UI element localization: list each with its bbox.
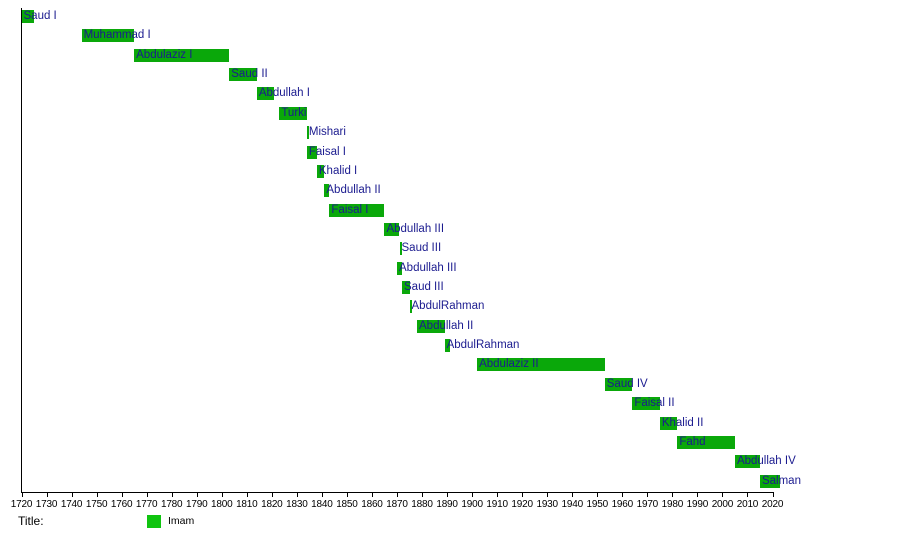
gantt-bar-label: Saud III	[404, 280, 444, 294]
x-tick-mark	[747, 492, 748, 497]
gantt-row[interactable]: Saud III	[0, 279, 900, 298]
x-tick-mark	[672, 492, 673, 497]
gantt-bar-label: Khalid II	[662, 416, 704, 430]
gantt-row[interactable]: Abdullah I	[0, 85, 900, 104]
x-tick-mark	[97, 492, 98, 497]
x-tick-mark	[72, 492, 73, 497]
legend-swatch-imam	[147, 515, 161, 528]
gantt-row[interactable]: Saud IV	[0, 376, 900, 395]
x-tick-label: 1720	[11, 499, 32, 510]
gantt-row[interactable]: Khalid II	[0, 415, 900, 434]
x-tick-label: 1830	[286, 499, 307, 510]
gantt-bar-label: AbdulRahman	[447, 338, 520, 352]
x-tick-label: 1850	[336, 499, 357, 510]
gantt-row[interactable]: AbdulRahman	[0, 337, 900, 356]
x-tick-label: 1800	[211, 499, 232, 510]
plot-area: 1720173017401750176017701780179018001810…	[0, 0, 900, 495]
gantt-bar-label: Abdullah III	[386, 222, 444, 236]
x-tick-mark	[397, 492, 398, 497]
x-tick-label: 1770	[136, 499, 157, 510]
x-tick-mark	[447, 492, 448, 497]
x-tick-label: 1810	[236, 499, 257, 510]
x-tick-mark	[472, 492, 473, 497]
gantt-bar-label: AbdulRahman	[412, 299, 485, 313]
legend-title: Title:	[18, 514, 44, 528]
gantt-bar-label: Saud IV	[607, 377, 648, 391]
gantt-bar-label: Abdullah II	[419, 319, 473, 333]
x-tick-mark	[597, 492, 598, 497]
x-tick-label: 1820	[261, 499, 282, 510]
gantt-bar-label: Fahd	[679, 435, 705, 449]
gantt-row[interactable]: Abdullah II	[0, 182, 900, 201]
x-tick-label: 1980	[662, 499, 683, 510]
x-tick-label: 1900	[461, 499, 482, 510]
x-tick-label: 1860	[361, 499, 382, 510]
x-tick-mark	[572, 492, 573, 497]
gantt-row[interactable]: Saud III	[0, 240, 900, 259]
x-tick-mark	[773, 492, 774, 497]
gantt-bar-label: Saud I	[24, 9, 57, 23]
gantt-row[interactable]: Saud I	[0, 8, 900, 27]
x-tick-mark	[122, 492, 123, 497]
x-tick-label: 1910	[486, 499, 507, 510]
gantt-row[interactable]: Muhammad I	[0, 27, 900, 46]
x-tick-label: 2000	[712, 499, 733, 510]
x-tick-label: 1950	[587, 499, 608, 510]
gantt-bar-label: Faisal II	[634, 396, 674, 410]
gantt-row[interactable]: Turki	[0, 105, 900, 124]
gantt-row[interactable]: Abdullah III	[0, 260, 900, 279]
gantt-bar-label: Saud III	[402, 241, 442, 255]
x-tick-label: 1940	[561, 499, 582, 510]
x-tick-mark	[172, 492, 173, 497]
x-tick-mark	[247, 492, 248, 497]
gantt-bar-label: Abdullah II	[326, 183, 380, 197]
x-tick-mark	[22, 492, 23, 497]
gantt-row[interactable]: Salman	[0, 473, 900, 492]
x-tick-mark	[722, 492, 723, 497]
x-tick-mark	[222, 492, 223, 497]
gantt-row[interactable]: Saud II	[0, 66, 900, 85]
gantt-row[interactable]: Fahd	[0, 434, 900, 453]
gantt-row[interactable]: Faisal I	[0, 202, 900, 221]
gantt-bar-label: Abdullah I	[259, 86, 310, 100]
x-tick-label: 1760	[111, 499, 132, 510]
gantt-bar-label: Khalid I	[319, 164, 357, 178]
gantt-row[interactable]: Abdullah IV	[0, 453, 900, 472]
x-tick-label: 1890	[436, 499, 457, 510]
x-tick-mark	[147, 492, 148, 497]
gantt-bar-label: Abdullah IV	[737, 454, 796, 468]
gantt-row[interactable]: Abdulaziz II	[0, 356, 900, 375]
gantt-bar-label: Turki	[281, 106, 306, 120]
gantt-bar-label: Muhammad I	[84, 28, 151, 42]
gantt-row[interactable]: Faisal II	[0, 395, 900, 414]
gantt-bar-label: Abdulaziz I	[136, 48, 192, 62]
x-tick-label: 2010	[737, 499, 758, 510]
x-tick-label: 1790	[186, 499, 207, 510]
gantt-row[interactable]: Abdullah III	[0, 221, 900, 240]
x-tick-mark	[697, 492, 698, 497]
gantt-row[interactable]: Khalid I	[0, 163, 900, 182]
x-tick-mark	[422, 492, 423, 497]
x-tick-mark	[197, 492, 198, 497]
gantt-bar-label: Saud II	[231, 67, 267, 81]
gantt-row[interactable]: Faisal I	[0, 144, 900, 163]
gantt-row[interactable]: AbdulRahman	[0, 298, 900, 317]
gantt-chart: 1720173017401750176017701780179018001810…	[0, 0, 900, 540]
x-tick-label: 1880	[411, 499, 432, 510]
x-tick-label: 1750	[86, 499, 107, 510]
gantt-bar-label: Faisal I	[309, 145, 346, 159]
gantt-row[interactable]: Abdulaziz I	[0, 47, 900, 66]
gantt-bar-label: Abdulaziz II	[479, 357, 538, 371]
gantt-bar-label: Abdullah III	[399, 261, 457, 275]
x-tick-mark	[497, 492, 498, 497]
gantt-bar-label: Faisal I	[331, 203, 368, 217]
gantt-bar-label: Mishari	[309, 125, 346, 139]
x-tick-label: 1990	[687, 499, 708, 510]
gantt-bar-label: Salman	[762, 474, 801, 488]
x-tick-mark	[647, 492, 648, 497]
chart-legend: Title: Imam	[0, 512, 900, 534]
x-tick-mark	[347, 492, 348, 497]
x-tick-label: 1920	[511, 499, 532, 510]
gantt-row[interactable]: Abdullah II	[0, 318, 900, 337]
x-tick-label: 1870	[386, 499, 407, 510]
legend-label-imam: Imam	[168, 515, 194, 527]
x-tick-label: 1780	[161, 499, 182, 510]
x-tick-label: 1970	[637, 499, 658, 510]
gantt-row[interactable]: Mishari	[0, 124, 900, 143]
x-tick-mark	[372, 492, 373, 497]
x-tick-mark	[322, 492, 323, 497]
x-tick-mark	[272, 492, 273, 497]
x-tick-label: 1930	[536, 499, 557, 510]
x-tick-label: 2020	[762, 499, 783, 510]
x-tick-label: 1730	[36, 499, 57, 510]
x-tick-mark	[622, 492, 623, 497]
x-tick-mark	[522, 492, 523, 497]
x-tick-mark	[547, 492, 548, 497]
x-tick-label: 1740	[61, 499, 82, 510]
x-tick-label: 1840	[311, 499, 332, 510]
x-tick-mark	[297, 492, 298, 497]
x-tick-mark	[47, 492, 48, 497]
x-tick-label: 1960	[612, 499, 633, 510]
